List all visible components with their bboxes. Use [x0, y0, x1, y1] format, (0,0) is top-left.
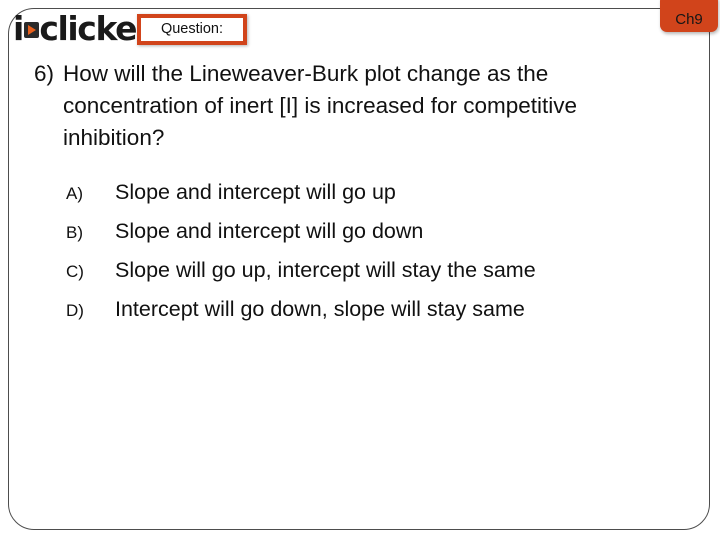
- answer-options-list: A) Slope and intercept will go up B) Slo…: [66, 182, 666, 338]
- question-label-box: Question:: [137, 14, 247, 45]
- logo-word-clicker: clicker: [39, 12, 151, 45]
- option-text-c: Slope will go up, intercept will stay th…: [115, 260, 536, 282]
- iclicker-question-slide: i clicker Question: Ch9 6) How will the …: [0, 0, 720, 540]
- option-text-b: Slope and intercept will go down: [115, 221, 423, 243]
- chapter-tab: Ch9: [660, 0, 718, 32]
- iclicker-logo: i clicker: [13, 11, 151, 45]
- chapter-tab-label: Ch9: [675, 12, 703, 27]
- option-letter-b: B): [66, 224, 115, 241]
- answer-option-b[interactable]: B) Slope and intercept will go down: [66, 221, 666, 260]
- option-text-d: Intercept will go down, slope will stay …: [115, 299, 525, 321]
- option-letter-d: D): [66, 302, 115, 319]
- option-letter-a: A): [66, 185, 115, 202]
- answer-option-c[interactable]: C) Slope will go up, intercept will stay…: [66, 260, 666, 299]
- answer-option-a[interactable]: A) Slope and intercept will go up: [66, 182, 666, 221]
- logo-letter-i: i: [13, 12, 23, 45]
- play-triangle-icon: [24, 22, 39, 38]
- question-block: 6) How will the Lineweaver-Burk plot cha…: [34, 58, 654, 154]
- option-letter-c: C): [66, 263, 115, 280]
- question-text: How will the Lineweaver-Burk plot change…: [63, 58, 623, 154]
- answer-option-d[interactable]: D) Intercept will go down, slope will st…: [66, 299, 666, 338]
- question-label-text: Question:: [161, 22, 223, 37]
- option-text-a: Slope and intercept will go up: [115, 182, 396, 204]
- question-number: 6): [34, 58, 63, 90]
